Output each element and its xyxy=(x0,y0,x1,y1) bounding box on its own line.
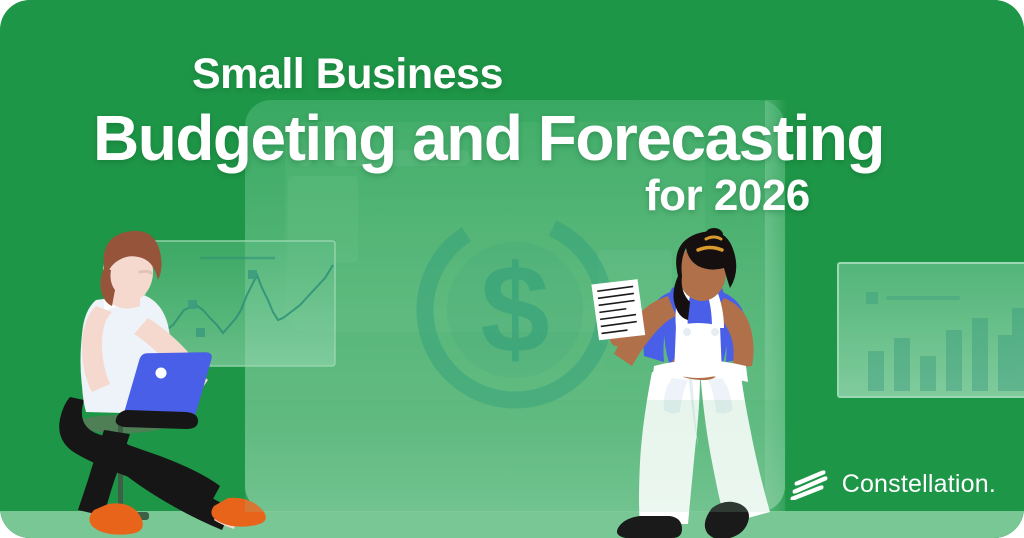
bar-chart-legend-swatch xyxy=(866,292,878,304)
bar-chart-legend-label xyxy=(886,296,960,300)
logo-wordmark-text: Constellation xyxy=(842,470,989,498)
overalls-button-left xyxy=(683,328,691,336)
illustration-canvas: $ xyxy=(0,0,1024,538)
promotional-banner: $ xyxy=(0,0,1024,538)
overalls-button-right xyxy=(711,328,719,336)
logo-wordmark: Constellation. xyxy=(842,472,996,497)
woman-hair-bun xyxy=(115,232,141,254)
card-bar xyxy=(330,150,470,166)
floor-band xyxy=(0,511,1024,538)
deco-bar-d xyxy=(604,382,644,394)
logo-trademark-dot: . xyxy=(989,470,996,498)
bottom-light-wash xyxy=(245,400,785,512)
bar-chart-panel xyxy=(838,263,1024,397)
constellation-logo[interactable]: Constellation. xyxy=(789,468,996,500)
card-dot xyxy=(297,150,313,166)
line-chart-marker xyxy=(188,300,197,309)
constellation-stripes-icon xyxy=(789,468,831,500)
line-chart-marker xyxy=(196,328,205,337)
laptop-base xyxy=(116,410,198,429)
line-chart-marker xyxy=(248,270,257,279)
laptop-logo-dot xyxy=(156,368,167,379)
dollar-sign-glyph: $ xyxy=(480,240,550,379)
